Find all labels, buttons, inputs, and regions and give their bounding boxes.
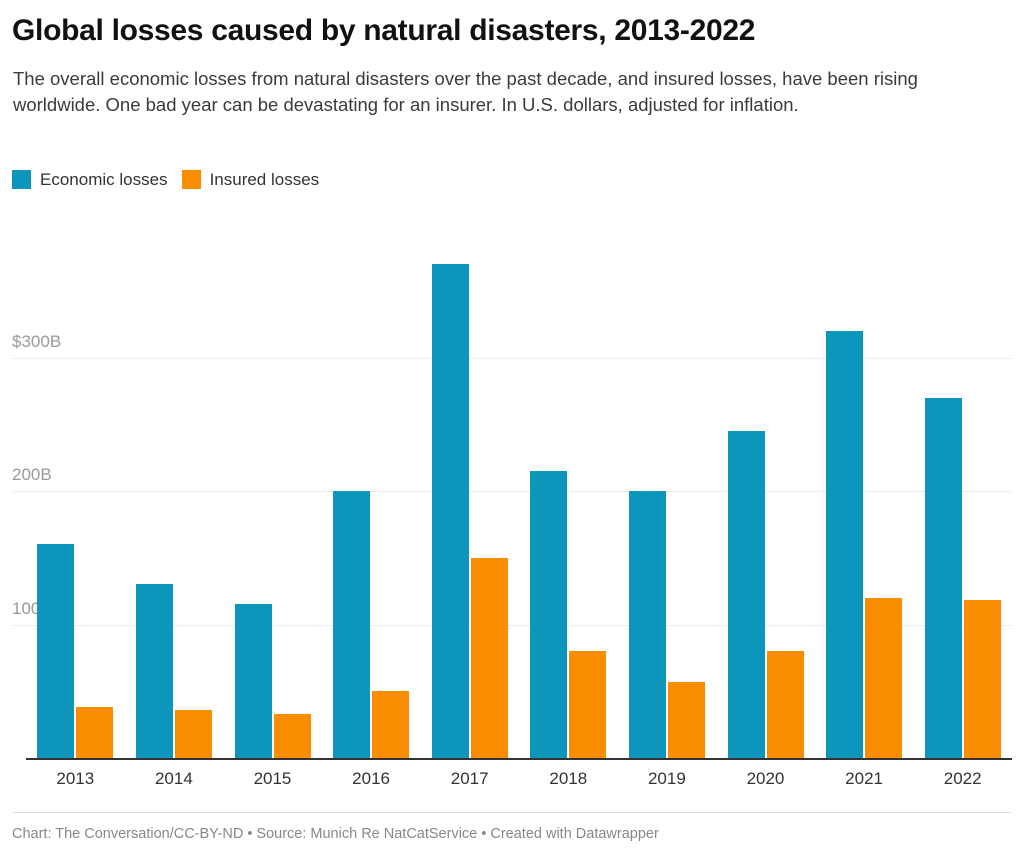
bar-economic-2014[interactable] xyxy=(136,584,173,758)
bar-economic-2016[interactable] xyxy=(333,491,370,758)
footer-divider xyxy=(12,812,1012,813)
bar-economic-2020[interactable] xyxy=(728,431,765,758)
bar-economic-2018[interactable] xyxy=(530,471,567,758)
bar-insured-2013[interactable] xyxy=(76,707,113,758)
x-tick-label-2015: 2015 xyxy=(223,768,322,790)
bar-insured-2014[interactable] xyxy=(175,710,212,758)
bar-insured-2022[interactable] xyxy=(964,600,1001,758)
bar-insured-2020[interactable] xyxy=(767,651,804,758)
x-tick-label-2017: 2017 xyxy=(420,768,519,790)
bars-layer xyxy=(26,0,1012,856)
x-tick-label-2019: 2019 xyxy=(618,768,717,790)
bar-chart-plot: 100B200B$300B 20132014201520162017201820… xyxy=(0,0,1024,856)
bar-economic-2019[interactable] xyxy=(629,491,666,758)
bar-insured-2016[interactable] xyxy=(372,691,409,758)
x-tick-label-2014: 2014 xyxy=(125,768,224,790)
x-tick-label-2020: 2020 xyxy=(716,768,815,790)
x-tick-label-2013: 2013 xyxy=(26,768,125,790)
x-tick-label-2018: 2018 xyxy=(519,768,618,790)
bar-economic-2017[interactable] xyxy=(432,264,469,758)
bar-insured-2019[interactable] xyxy=(668,682,705,758)
bar-economic-2021[interactable] xyxy=(826,331,863,758)
bar-insured-2015[interactable] xyxy=(274,714,311,758)
bar-economic-2015[interactable] xyxy=(235,604,272,758)
bar-economic-2022[interactable] xyxy=(925,398,962,758)
x-tick-label-2021: 2021 xyxy=(815,768,914,790)
bar-insured-2017[interactable] xyxy=(471,558,508,758)
chart-credit: Chart: The Conversation/CC-BY-ND • Sourc… xyxy=(12,824,659,844)
chart-page: Global losses caused by natural disaster… xyxy=(0,0,1024,856)
x-tick-label-2022: 2022 xyxy=(913,768,1012,790)
bar-economic-2013[interactable] xyxy=(37,544,74,758)
x-tick-label-2016: 2016 xyxy=(322,768,421,790)
bar-insured-2021[interactable] xyxy=(865,598,902,758)
bar-insured-2018[interactable] xyxy=(569,651,606,758)
